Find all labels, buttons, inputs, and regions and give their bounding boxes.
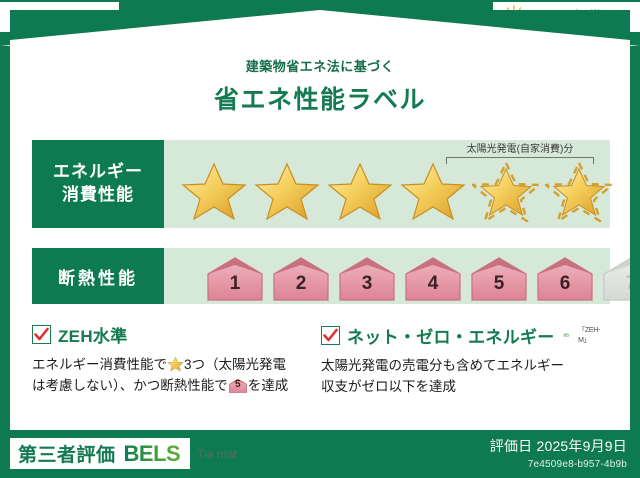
title-subtitle: 建築物省エネ法に基づく [10,56,630,75]
evaluation-info: 評価日 2025年9月9日 7e4509e8-b957-4b9b [490,436,627,470]
insulation-row-body: 1 2 3 [164,248,610,304]
energy-label-line1: エネルギー [53,161,143,184]
evaluation-id: 7e4509e8-b957-4b9b [490,459,627,470]
criterion-zeh-text: エネルギー消費性能で3つ（太陽光発電 は考慮しない）、かつ断熱性能で5を達成 [32,355,311,397]
insulation-level-7-value: 7 [600,254,630,302]
star-5-pv [472,160,540,222]
zeh-text-a: エネルギー消費性能で [32,357,167,372]
criterion-net-zero-text: 太陽光発電の売電分も含めてエネルギー 収支がゼロ以下を達成 [321,356,600,398]
check-icon [321,326,340,345]
star-icon [167,356,184,372]
criterion-net-zero-title: ネット・ゼロ・エネルギー [347,323,555,348]
insulation-level-7: 7 [600,254,630,302]
bels-certification-mark: 第三者評価 BELS Tia mat [10,438,190,469]
insulation-level-5: 5 [468,254,530,302]
criterion-zeh-header: ZEH水準 [32,322,311,347]
zeh-m-logo-sublabel: 「ZEH-M」 [578,325,600,345]
criterion-net-zero-header: ネット・ゼロ・エネルギー ZEH-M 「ZEH-M」 [321,322,600,348]
zeh-checkbox[interactable] [32,325,51,344]
star-6-pv [545,160,613,222]
insulation-level-3-value: 3 [336,254,398,302]
star-icon [253,160,321,222]
pv-bracket: 太陽光発電(自家消費)分 [446,144,594,164]
title-main: 省エネ性能ラベル [10,80,630,116]
bels-en-label: BELS [124,441,181,467]
footer-bar: 第三者評価 BELS Tia mat 評価日 2025年9月9日 7e4509e… [0,430,640,478]
zeh-m-logo-icon: ZEH-M [562,322,571,348]
insulation-level-4-value: 4 [402,254,464,302]
insulation-level-2-value: 2 [270,254,332,302]
pv-bracket-label: 太陽光発電(自家消費)分 [446,144,594,155]
insulation-performance-row: 断熱性能 1 [32,248,610,304]
insulation-level-scale: 1 2 3 [164,248,610,304]
net-zero-text-b: 収支がゼロ以下を達成 [321,379,456,394]
star-icon [545,160,613,222]
energy-row-body: 太陽光発電(自家消費)分 [164,140,610,228]
insulation-level-3: 3 [336,254,398,302]
panel-peak-shape [10,10,630,50]
energy-performance-row: エネルギー 消費性能 太陽光発電(自家消費)分 [32,140,610,228]
bels-jp-label: 第三者評価 [18,440,116,467]
star-1 [180,160,248,222]
insulation-level-6-value: 6 [534,254,596,302]
zeh-text-c: は考慮しない）、かつ断熱性能で [32,378,228,393]
zeh-text-d: を達成 [248,378,289,393]
criterion-net-zero: ネット・ゼロ・エネルギー ZEH-M 「ZEH-M」 太陽光発電の売電分も含めて… [321,322,610,418]
net-zero-text-a: 太陽光発電の売電分も含めてエネルギー [321,358,564,373]
insulation-level-1: 1 [204,254,266,302]
insulation-level-2: 2 [270,254,332,302]
star-icon [472,160,540,222]
criteria-section: ZEH水準 エネルギー消費性能で3つ（太陽光発電 は考慮しない）、かつ断熱性能で… [32,322,610,418]
house-icon-5: 5 [228,377,248,394]
energy-label-line2: 消費性能 [62,184,134,207]
star-3 [326,160,394,222]
star-rating [164,158,610,224]
insulation-level-4: 4 [402,254,464,302]
insulation-level-1-value: 1 [204,254,266,302]
star-4 [399,160,467,222]
insulation-level-5-value: 5 [468,254,530,302]
pv-bracket-line [446,157,594,164]
net-zero-checkbox[interactable] [321,326,340,345]
label-panel: 建築物省エネ法に基づく 省エネ性能ラベル エネルギー 消費性能 太陽光発電(自家… [10,10,630,430]
criterion-zeh: ZEH水準 エネルギー消費性能で3つ（太陽光発電 は考慮しない）、かつ断熱性能で… [32,322,321,418]
energy-row-label: エネルギー 消費性能 [32,140,164,228]
star-icon [180,160,248,222]
page-title: 建築物省エネ法に基づく 省エネ性能ラベル [10,56,630,116]
evaluation-date: 評価日 2025年9月9日 [490,436,627,456]
energy-performance-label: 住宅（住棟） 再エネ設備あり 建築物省エネ法に基づく 省エ [0,0,640,478]
insulation-level-6: 6 [534,254,596,302]
star-icon [399,160,467,222]
criterion-zeh-title: ZEH水準 [58,322,128,347]
zeh-text-b: 3つ（太陽光発電 [184,357,286,372]
check-icon [32,325,51,344]
star-icon [326,160,394,222]
house-icon-5-value: 5 [228,377,248,394]
evaluator-name: Tia mat [197,447,237,461]
insulation-row-label: 断熱性能 [32,248,164,304]
star-2 [253,160,321,222]
